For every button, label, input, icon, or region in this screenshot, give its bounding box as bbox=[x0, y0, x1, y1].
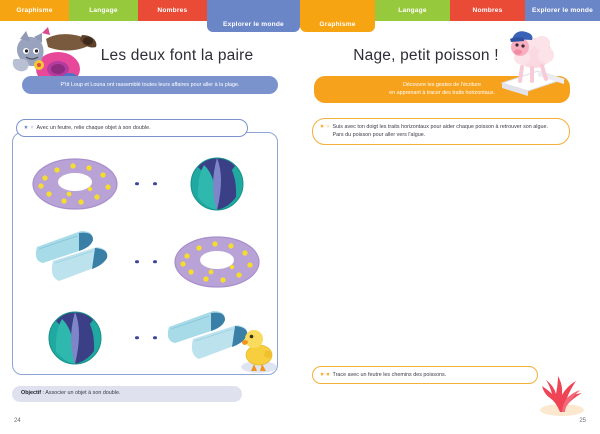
star-icon-filled bbox=[326, 372, 330, 376]
flippers-icon bbox=[21, 225, 129, 298]
tab-label: Nombres bbox=[473, 7, 503, 14]
objectif-box-left: Objectif : Associer un objet à son doubl… bbox=[12, 386, 242, 402]
instruction-text: Trace avec un feutre les chemins des poi… bbox=[333, 371, 447, 379]
tab-label: Graphisme bbox=[319, 21, 355, 28]
pair-item-swim-ring[interactable] bbox=[21, 147, 129, 220]
connect-dot-left[interactable] bbox=[135, 336, 139, 340]
instruction-text: Avec un feutre, relie chaque objet à son… bbox=[37, 124, 151, 132]
instruction-pill-top-right: Suis avec ton doigt les traits horizonta… bbox=[312, 118, 570, 145]
tab-label: Langage bbox=[398, 7, 427, 14]
tab-explorer-le-monde[interactable]: Explorer le monde bbox=[525, 0, 600, 21]
tab-explorer-le-monde[interactable]: Explorer le monde bbox=[207, 0, 300, 32]
pink-sheep-mascot-illustration bbox=[480, 21, 580, 97]
tab-bar-right: Graphisme Langage Nombres Explorer le mo… bbox=[300, 0, 600, 21]
pair-item-beach-ball[interactable] bbox=[163, 147, 271, 220]
pair-item-swim-ring[interactable] bbox=[163, 225, 271, 298]
tab-label: Graphisme bbox=[16, 7, 52, 14]
connect-dot-right[interactable] bbox=[153, 182, 157, 186]
tab-graphisme[interactable]: Graphisme bbox=[300, 0, 375, 32]
connect-dot-right[interactable] bbox=[153, 336, 157, 340]
difficulty-stars bbox=[320, 123, 330, 128]
header-right: Nage, petit poisson ! Découvre les geste… bbox=[300, 21, 600, 113]
objectif-label: Objectif bbox=[21, 390, 41, 396]
instruction-text: Suis avec ton doigt les traits horizonta… bbox=[333, 123, 561, 140]
beach-ball-icon bbox=[21, 301, 129, 374]
swim-ring-purple-icon bbox=[21, 147, 129, 220]
tab-nombres[interactable]: Nombres bbox=[450, 0, 525, 21]
pair-row bbox=[13, 225, 279, 298]
tab-langage[interactable]: Langage bbox=[69, 0, 138, 21]
tab-label: Explorer le monde bbox=[223, 21, 284, 28]
tab-langage[interactable]: Langage bbox=[375, 0, 450, 21]
pair-item-flippers[interactable] bbox=[21, 225, 129, 298]
exercise-panel-left bbox=[12, 132, 278, 375]
star-icon-filled bbox=[320, 124, 324, 128]
coral-pink-decoration bbox=[536, 372, 588, 416]
subtitle-line-1: Découvre les gestes de l'écriture bbox=[403, 82, 481, 88]
tab-graphisme[interactable]: Graphisme bbox=[0, 0, 69, 21]
star-icon-filled bbox=[320, 372, 324, 376]
page-number-right: 25 bbox=[579, 418, 586, 424]
star-icon-empty bbox=[30, 125, 34, 129]
difficulty-stars bbox=[24, 124, 34, 129]
objectif-text: Associer un objet à son double. bbox=[45, 390, 120, 396]
page-right: Graphisme Langage Nombres Explorer le mo… bbox=[300, 0, 600, 434]
tab-label: Explorer le monde bbox=[532, 7, 593, 14]
header-left: Les deux font la paire P'tit Loup et Lou… bbox=[0, 21, 300, 113]
connect-dot-left[interactable] bbox=[135, 260, 139, 264]
swim-ring-purple-icon bbox=[163, 225, 271, 298]
tab-label: Langage bbox=[89, 7, 118, 14]
beach-ball-icon bbox=[163, 147, 271, 220]
connect-dot-right[interactable] bbox=[153, 260, 157, 264]
subtitle-banner-left: P'tit Loup et Louna ont rassemblé toutes… bbox=[22, 76, 278, 94]
page-title-left: Les deux font la paire bbox=[0, 47, 300, 65]
pair-item-beach-ball[interactable] bbox=[21, 301, 129, 374]
instruction-pill-bottom-right: Trace avec un feutre les chemins des poi… bbox=[312, 366, 538, 384]
rubber-duck-decoration bbox=[237, 323, 281, 375]
difficulty-stars bbox=[320, 371, 330, 376]
instruction-pill-left: Avec un feutre, relie chaque objet à son… bbox=[16, 119, 248, 137]
star-icon-empty bbox=[326, 124, 330, 128]
subtitle-text: P'tit Loup et Louna ont rassemblé toutes… bbox=[61, 82, 240, 88]
star-icon-filled bbox=[24, 125, 28, 129]
tab-label: Nombres bbox=[157, 7, 187, 14]
connect-dot-left[interactable] bbox=[135, 182, 139, 186]
pair-row bbox=[13, 147, 279, 220]
book-spread: Graphisme Langage Nombres Explorer le mo… bbox=[0, 0, 600, 434]
page-left: Graphisme Langage Nombres Explorer le mo… bbox=[0, 0, 300, 434]
tab-bar-left: Graphisme Langage Nombres Explorer le mo… bbox=[0, 0, 300, 21]
tab-nombres[interactable]: Nombres bbox=[138, 0, 207, 21]
page-number-left: 24 bbox=[14, 418, 21, 424]
